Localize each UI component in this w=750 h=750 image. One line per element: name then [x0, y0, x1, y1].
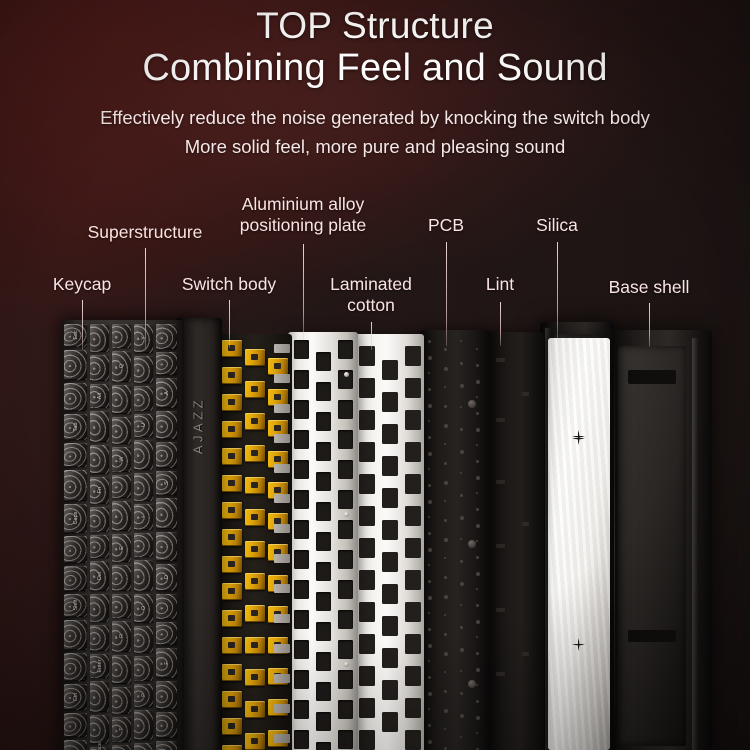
- callout-leader-line-laminated-cotton: [371, 322, 372, 350]
- callout-leader-line-base-shell: [649, 303, 650, 347]
- callout-layer: KeycapSuperstructureSwitch bodyAluminium…: [0, 0, 750, 750]
- callout-label-silica: Silica: [536, 215, 578, 236]
- callout-leader-line-superstructure: [145, 248, 146, 348]
- callout-label-switch-body: Switch body: [182, 274, 276, 295]
- callout-label-superstructure: Superstructure: [88, 222, 203, 243]
- callout-leader-line-keycap: [82, 300, 83, 350]
- callout-leader-line-aluminium-plate: [303, 244, 304, 340]
- callout-label-keycap: Keycap: [53, 274, 111, 295]
- callout-label-base-shell: Base shell: [609, 277, 690, 298]
- callout-label-aluminium-plate: Aluminium alloy positioning plate: [240, 194, 366, 236]
- callout-leader-line-pcb: [446, 242, 447, 346]
- callout-label-laminated-cotton: Laminated cotton: [330, 274, 412, 316]
- callout-leader-line-silica: [557, 242, 558, 340]
- callout-label-pcb: PCB: [428, 215, 464, 236]
- callout-label-lint: Lint: [486, 274, 514, 295]
- callout-leader-line-lint: [500, 302, 501, 346]
- callout-leader-line-switch-body: [229, 300, 230, 348]
- infographic-canvas: TOP Structure Combining Feel and Sound E…: [0, 0, 750, 750]
